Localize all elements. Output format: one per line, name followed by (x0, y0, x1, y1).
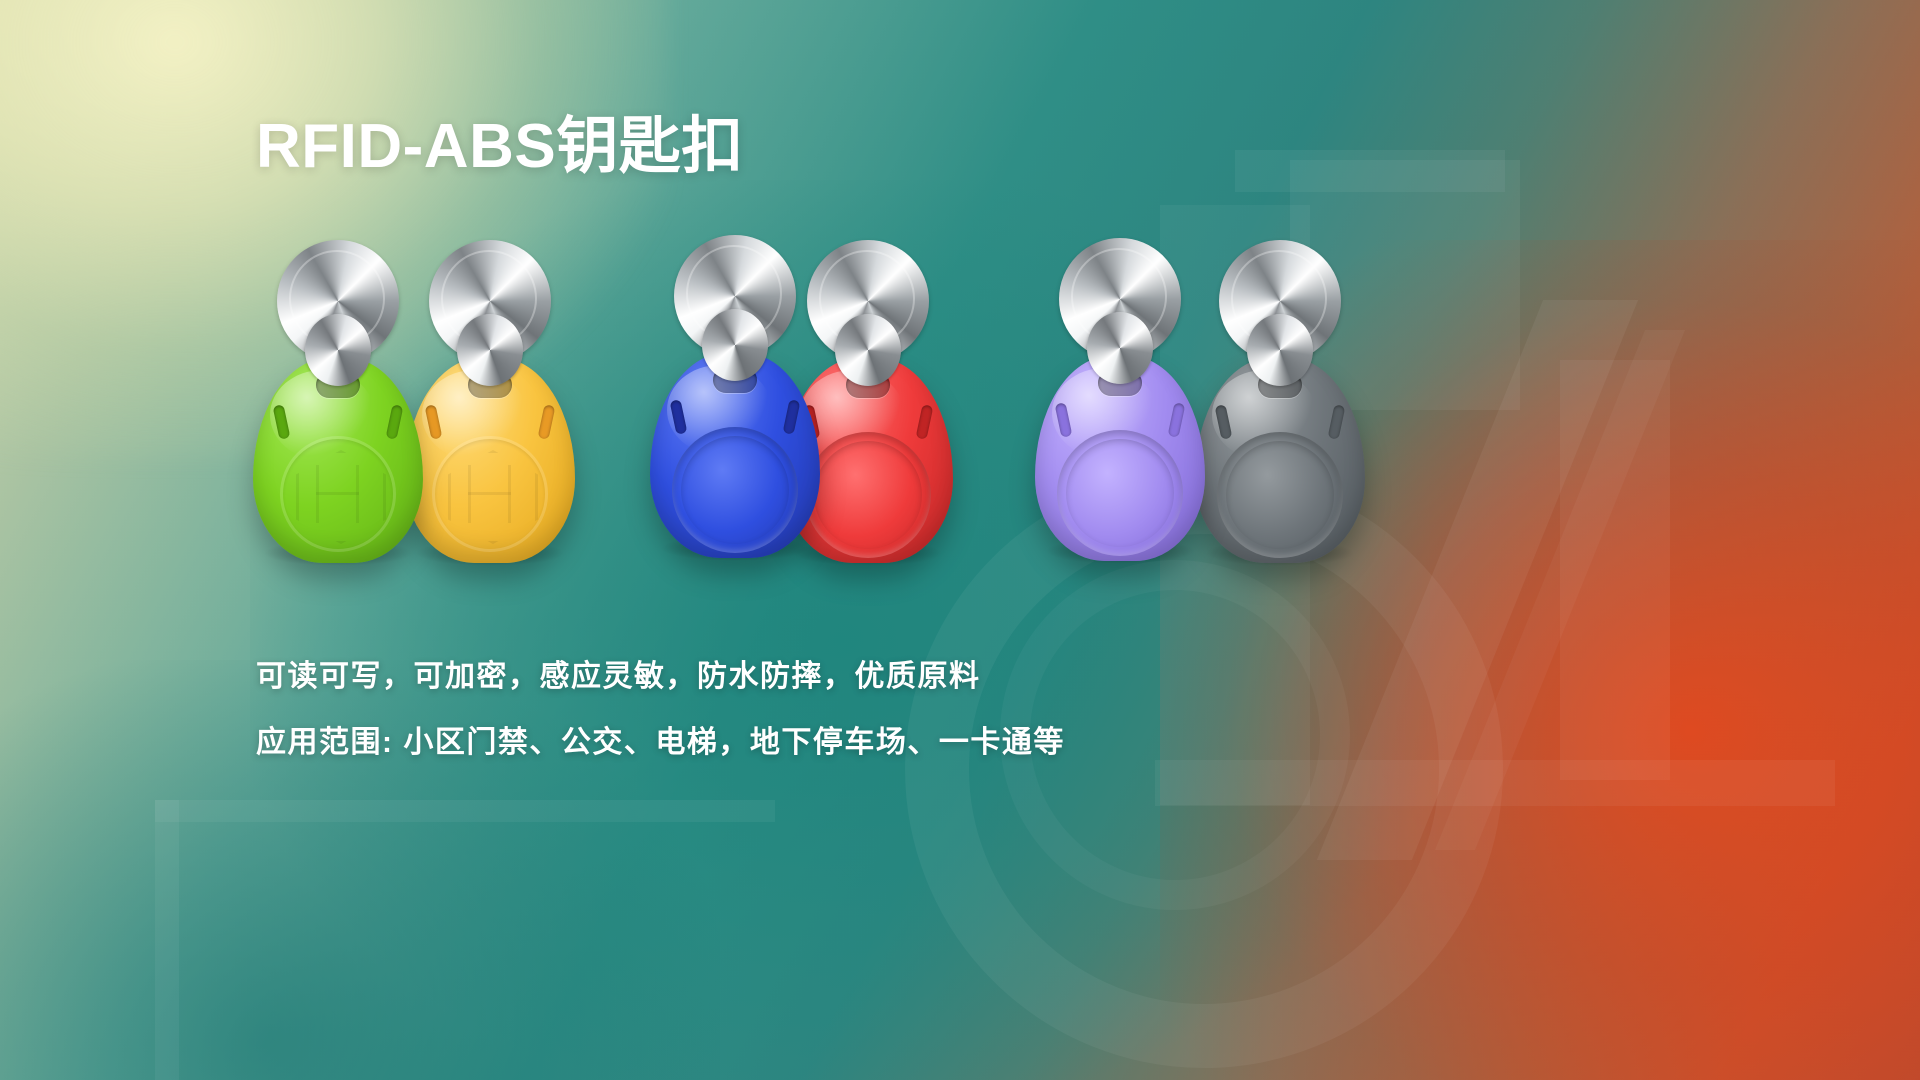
connector-ring-icon (305, 314, 371, 386)
feature-line-applications: 应用范围: 小区门禁、公交、电梯，地下停车场、一卡通等 (256, 724, 1065, 762)
emboss-bar-middle (468, 492, 511, 495)
feature-line-specs: 可读可写，可加密，感应灵敏，防水防摔，优质原料 (256, 658, 1065, 696)
connector-ring-icon (457, 314, 523, 386)
connector-ring-icon (835, 314, 901, 386)
connector-ring-icon (1247, 314, 1313, 386)
connector-ring-icon (702, 309, 768, 381)
product-banner: RFID-ABS钥匙扣 可读可写，可加密，感应灵敏，防水防摔，优质原料 应用范围… (0, 0, 1920, 1080)
feature-text-group: 可读可写，可加密，感应灵敏，防水防摔，优质原料 应用范围: 小区门禁、公交、电梯… (256, 658, 1065, 761)
page-title: RFID-ABS钥匙扣 (256, 116, 744, 178)
keyfob-purple[interactable] (1020, 238, 1220, 578)
keyfob-face-dish (672, 427, 798, 553)
keyfob-face-dish (1217, 432, 1343, 558)
keyfob-emboss-pattern (432, 436, 548, 552)
connector-ring-icon (1087, 312, 1153, 384)
keyfob-green[interactable] (238, 240, 438, 580)
emboss-bar-middle (316, 492, 359, 495)
keyfob-blue[interactable] (635, 235, 835, 575)
keyfob-emboss-pattern (280, 436, 396, 552)
keyfob-face-dish (1057, 430, 1183, 556)
